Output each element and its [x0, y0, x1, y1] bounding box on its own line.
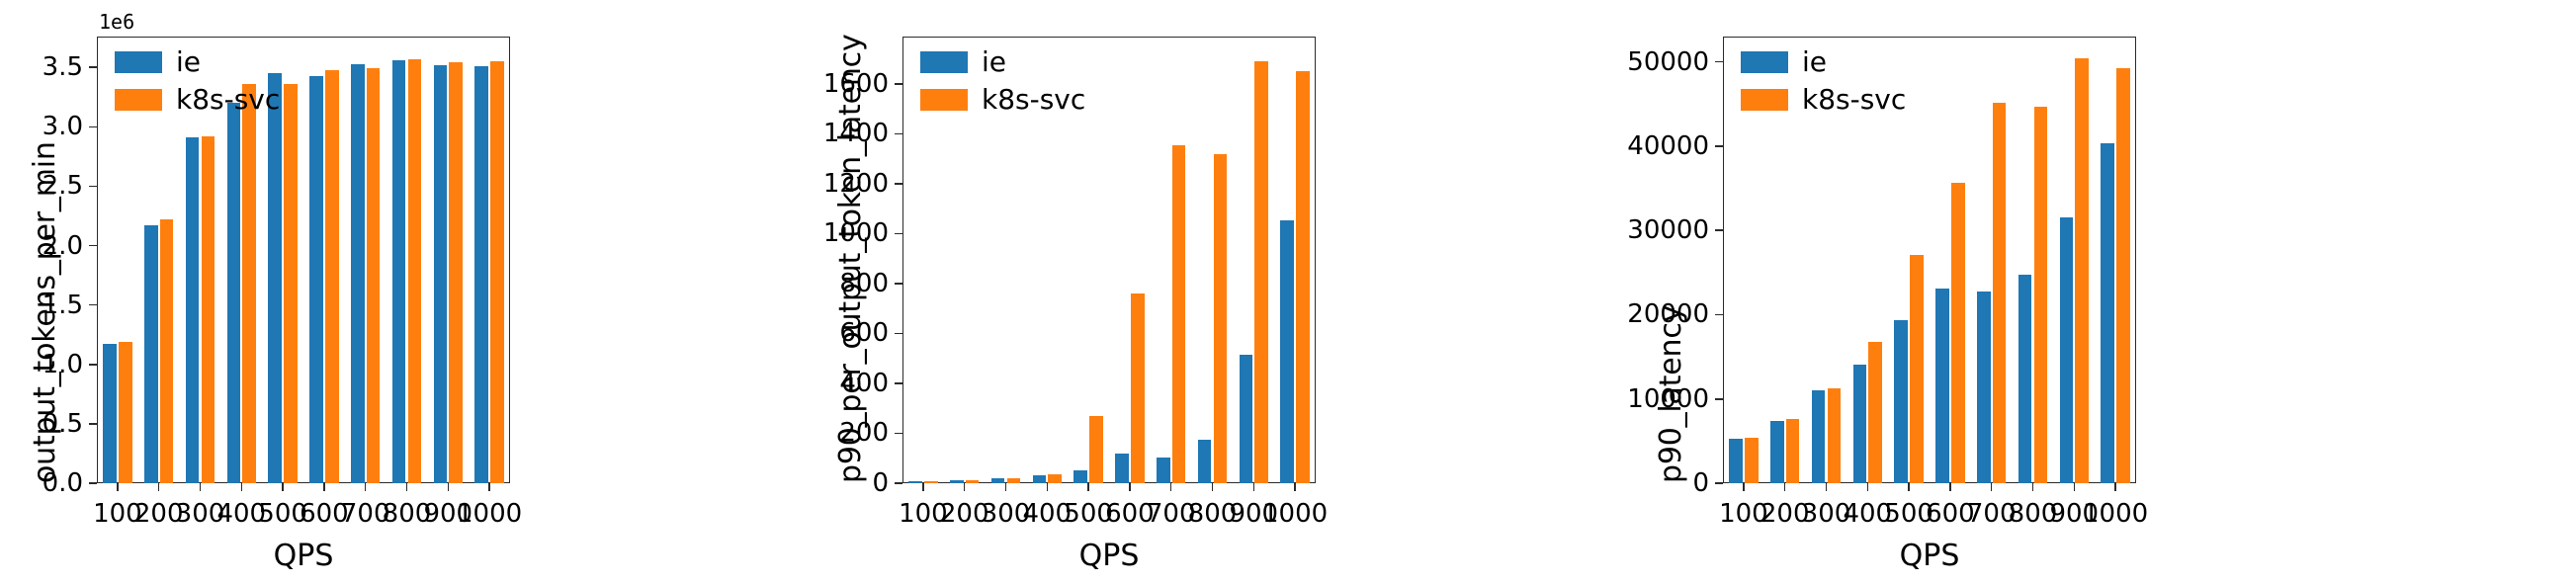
x-tick-mark [2114, 483, 2116, 491]
bar-ie-500 [1894, 320, 1908, 483]
bar-k8s-svc-400 [1868, 342, 1882, 483]
legend-swatch-k8s-svc [1741, 89, 1788, 111]
x-tick-mark [1949, 483, 1951, 491]
y-tick-label: 30000 [1541, 215, 1709, 245]
x-axis-label-3: QPS [1723, 539, 2136, 573]
bar-k8s-svc-600 [1951, 183, 1965, 483]
y-tick-mark [1715, 61, 1723, 63]
y-tick-label: 50000 [1541, 47, 1709, 77]
x-tick-mark [1826, 483, 1828, 491]
bar-ie-100 [1729, 439, 1743, 483]
x-tick-mark [1991, 483, 1993, 491]
y-tick-mark [1715, 145, 1723, 147]
bar-ie-600 [1935, 289, 1949, 483]
legend-swatch-ie [1741, 51, 1788, 73]
bar-ie-1000 [2101, 143, 2114, 483]
x-tick-mark [1784, 483, 1786, 491]
y-tick-mark [1715, 398, 1723, 400]
bar-k8s-svc-1000 [2116, 68, 2130, 483]
y-tick-label: 40000 [1541, 131, 1709, 161]
bar-ie-900 [2060, 217, 2074, 483]
bar-ie-800 [2018, 275, 2032, 483]
legend-3: iek8s-svc [1741, 48, 1906, 114]
legend-label-k8s-svc: k8s-svc [1802, 86, 1906, 114]
bar-k8s-svc-700 [1993, 103, 2007, 483]
subplot-3: 0100002000030000400005000010020030040050… [0, 0, 2576, 585]
bar-ie-200 [1770, 421, 1784, 483]
bar-k8s-svc-100 [1745, 438, 1759, 483]
y-tick-mark [1715, 482, 1723, 484]
y-axis-label-3: p90_latency [1654, 305, 1688, 483]
bar-ie-700 [1977, 292, 1991, 483]
y-tick-mark [1715, 229, 1723, 231]
legend-entry-k8s-svc: k8s-svc [1741, 86, 1906, 114]
x-tick-label: 1000 [2083, 499, 2148, 529]
bar-k8s-svc-500 [1910, 255, 1924, 483]
legend-entry-ie: ie [1741, 48, 1906, 76]
bar-ie-400 [1853, 365, 1867, 483]
figure-canvas: 1e60.00.51.01.52.02.53.03.51002003004005… [0, 0, 2576, 585]
bar-k8s-svc-200 [1786, 419, 1800, 483]
x-tick-mark [1867, 483, 1869, 491]
bar-k8s-svc-300 [1828, 388, 1842, 483]
x-tick-mark [1743, 483, 1745, 491]
x-tick-mark [1908, 483, 1910, 491]
y-tick-mark [1715, 314, 1723, 316]
x-tick-mark [2074, 483, 2076, 491]
bar-k8s-svc-800 [2034, 107, 2048, 483]
bar-k8s-svc-900 [2075, 58, 2089, 483]
legend-label-ie: ie [1802, 48, 1827, 76]
x-tick-mark [2032, 483, 2034, 491]
bar-ie-300 [1812, 390, 1826, 483]
